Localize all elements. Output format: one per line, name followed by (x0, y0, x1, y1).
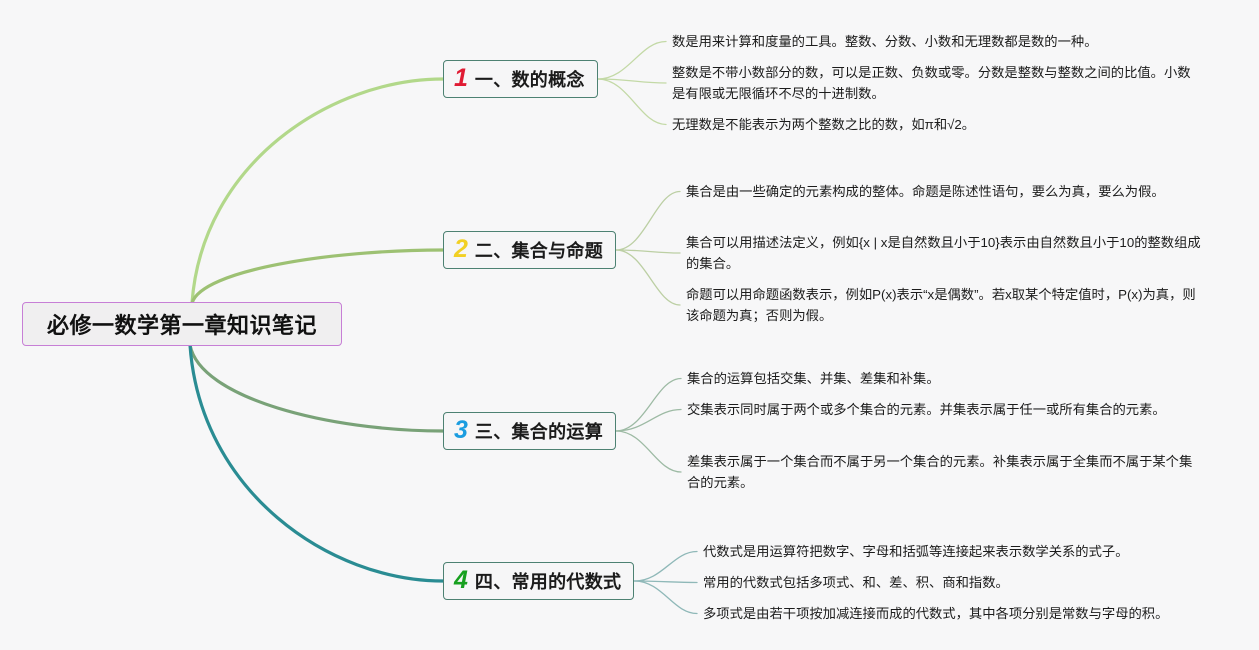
branch-node-3[interactable]: 3 三、集合的运算 (443, 412, 616, 450)
leaf-node-1-2[interactable]: 整数是不带小数部分的数，可以是正数、负数或零。分数是整数与整数之间的比值。小数是… (672, 62, 1197, 104)
leaf-text: 无理数是不能表示为两个整数之比的数，如π和√2。 (672, 114, 1192, 135)
leaf-text: 常用的代数式包括多项式、和、差、积、商和指数。 (703, 572, 1203, 593)
leaf-node-1-3[interactable]: 无理数是不能表示为两个整数之比的数，如π和√2。 (672, 114, 1192, 135)
leaf-text: 整数是不带小数部分的数，可以是正数、负数或零。分数是整数与整数之间的比值。小数是… (672, 62, 1197, 104)
root-node[interactable]: 必修一数学第一章知识笔记 (22, 302, 342, 346)
branch-node-1[interactable]: 1 一、数的概念 (443, 60, 598, 98)
branch-number-2: 2 (454, 237, 468, 262)
leaf-node-2-1[interactable]: 集合是由一些确定的元素构成的整体。命题是陈述性语句，要么为真，要么为假。 (686, 181, 1198, 202)
leaf-node-1-1[interactable]: 数是用来计算和度量的工具。整数、分数、小数和无理数都是数的一种。 (672, 31, 1192, 52)
branch-label-4: 四、常用的代数式 (475, 568, 621, 594)
branch-number-3: 3 (454, 418, 468, 443)
branch-number-4: 4 (454, 568, 468, 593)
leaf-text: 集合可以用描述法定义，例如{x | x是自然数且小于10}表示由自然数且小于10… (686, 232, 1204, 274)
branch-label-3: 三、集合的运算 (475, 418, 603, 444)
leaf-node-3-1[interactable]: 集合的运算包括交集、并集、差集和补集。 (687, 368, 1197, 389)
leaf-text: 代数式是用运算符把数字、字母和括弧等连接起来表示数学关系的式子。 (703, 541, 1203, 562)
branch-label-1: 一、数的概念 (475, 66, 585, 92)
branch-label-2: 二、集合与命题 (475, 237, 603, 263)
leaf-text: 集合的运算包括交集、并集、差集和补集。 (687, 368, 1197, 389)
leaf-node-4-2[interactable]: 常用的代数式包括多项式、和、差、积、商和指数。 (703, 572, 1203, 593)
leaf-text: 差集表示属于一个集合而不属于另一个集合的元素。补集表示属于全集而不属于某个集合的… (687, 451, 1199, 493)
root-node-label: 必修一数学第一章知识笔记 (47, 308, 317, 340)
leaf-node-4-3[interactable]: 多项式是由若干项按加减连接而成的代数式，其中各项分别是常数与字母的积。 (703, 603, 1211, 624)
leaf-text: 多项式是由若干项按加减连接而成的代数式，其中各项分别是常数与字母的积。 (703, 603, 1211, 624)
leaf-text: 集合是由一些确定的元素构成的整体。命题是陈述性语句，要么为真，要么为假。 (686, 181, 1198, 202)
leaf-text: 数是用来计算和度量的工具。整数、分数、小数和无理数都是数的一种。 (672, 31, 1192, 52)
leaf-node-2-3[interactable]: 命题可以用命题函数表示，例如P(x)表示“x是偶数”。若x取某个特定值时，P(x… (686, 284, 1200, 326)
leaf-node-2-2[interactable]: 集合可以用描述法定义，例如{x | x是自然数且小于10}表示由自然数且小于10… (686, 232, 1204, 274)
leaf-node-3-3[interactable]: 差集表示属于一个集合而不属于另一个集合的元素。补集表示属于全集而不属于某个集合的… (687, 451, 1199, 493)
leaf-node-4-1[interactable]: 代数式是用运算符把数字、字母和括弧等连接起来表示数学关系的式子。 (703, 541, 1203, 562)
branch-node-2[interactable]: 2 二、集合与命题 (443, 231, 616, 269)
mindmap-canvas: 必修一数学第一章知识笔记 1 一、数的概念 数是用来计算和度量的工具。整数、分数… (0, 0, 1259, 650)
leaf-text: 交集表示同时属于两个或多个集合的元素。并集表示属于任一或所有集合的元素。 (687, 399, 1199, 420)
branch-node-4[interactable]: 4 四、常用的代数式 (443, 562, 634, 600)
leaf-text: 命题可以用命题函数表示，例如P(x)表示“x是偶数”。若x取某个特定值时，P(x… (686, 284, 1200, 326)
branch-number-1: 1 (454, 66, 468, 91)
leaf-node-3-2[interactable]: 交集表示同时属于两个或多个集合的元素。并集表示属于任一或所有集合的元素。 (687, 399, 1199, 420)
